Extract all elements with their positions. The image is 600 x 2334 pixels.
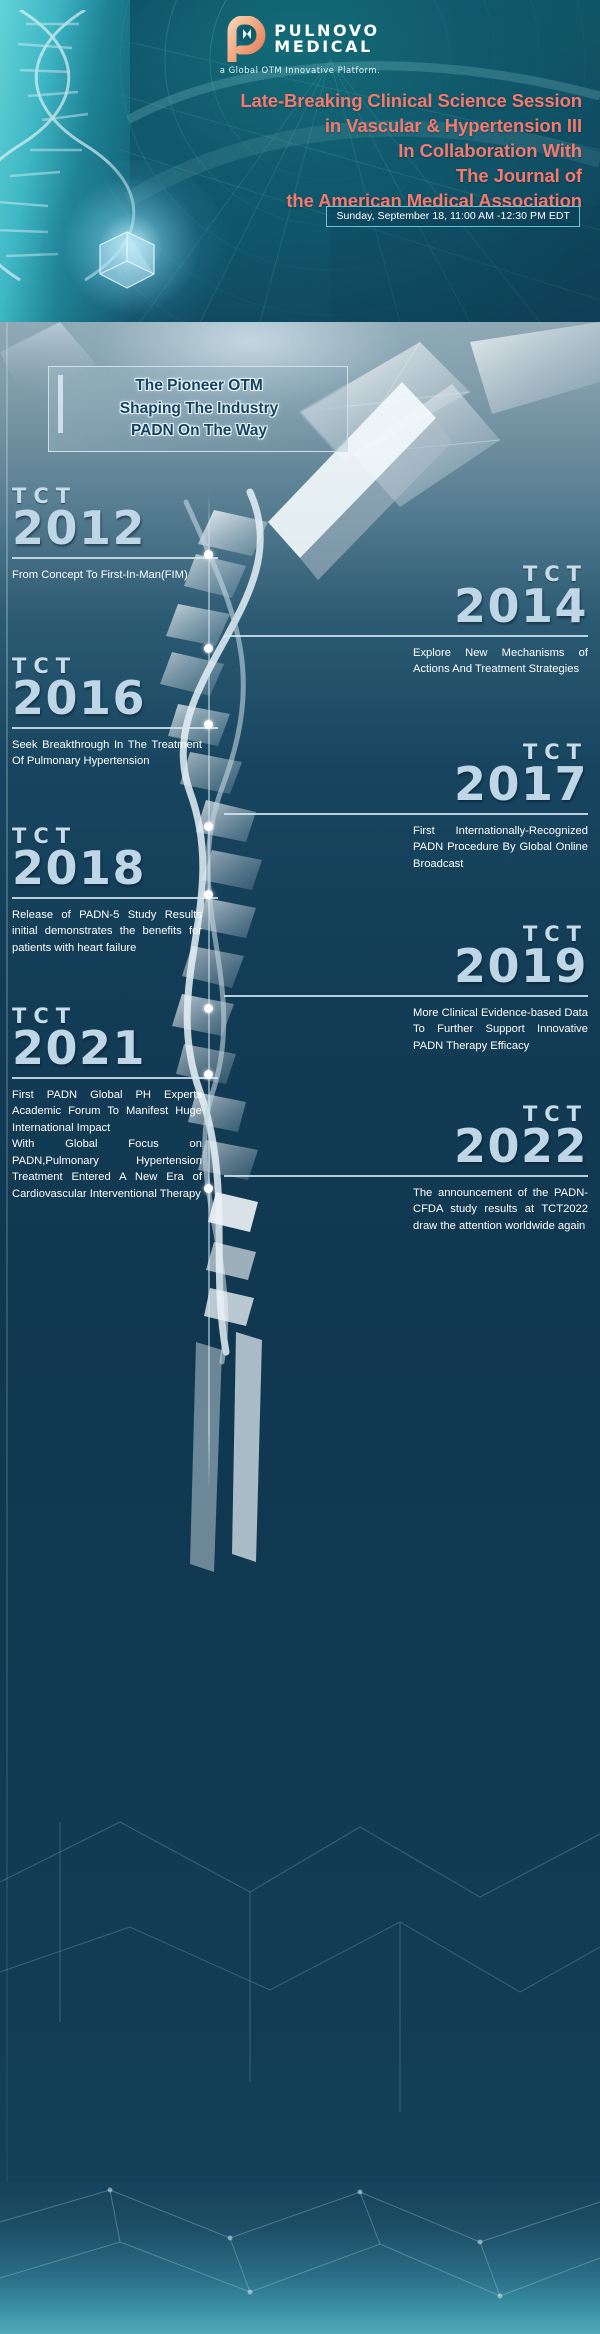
title-line-2: in Vascular & Hypertension III xyxy=(112,113,582,138)
timeline-entry-2018: TCT 2018 Release of PADN-5 Study Results… xyxy=(12,824,218,956)
left-edge-rule xyxy=(6,322,8,2182)
timeline-dot-2018 xyxy=(204,890,213,899)
infographic-page: PULNOVO MEDICAL a Global OTM Innovative … xyxy=(0,0,600,2334)
desc-2012: From Concept To First-In-Man(FIM) xyxy=(12,567,202,584)
timeline-entry-2017: TCT 2017 First Internationally-Recognize… xyxy=(224,740,588,872)
desc-2017: First Internationally-Recognized PADN Pr… xyxy=(413,823,588,873)
hero-line-2: Shaping The Industry xyxy=(49,398,349,421)
year-2018: 2018 xyxy=(12,845,218,891)
hero-line-3: PADN On The Way xyxy=(49,420,349,443)
logo-tagline: a Global OTM Innovative Platform. xyxy=(0,66,600,76)
timeline-dot-2016 xyxy=(204,720,213,729)
timeline-dot-2022 xyxy=(204,1184,213,1193)
timeline-axis xyxy=(208,492,210,1492)
year-2019: 2019 xyxy=(224,943,588,989)
year-2021: 2021 xyxy=(12,1025,218,1071)
footer-network-decor xyxy=(0,2182,600,2334)
year-2012: 2012 xyxy=(12,505,218,551)
hero-banner-text: The Pioneer OTM Shaping The Industry PAD… xyxy=(49,375,349,443)
entry-rule xyxy=(224,635,588,637)
year-2014: 2014 xyxy=(224,583,588,629)
hero-line-1: The Pioneer OTM xyxy=(49,375,349,398)
timeline-entry-2012: TCT 2012 From Concept To First-In-Man(FI… xyxy=(12,484,218,583)
timeline-body: The Pioneer OTM Shaping The Industry PAD… xyxy=(0,322,600,2182)
brand-logo: PULNOVO MEDICAL xyxy=(0,16,600,67)
header-banner: PULNOVO MEDICAL a Global OTM Innovative … xyxy=(0,0,600,322)
timeline-entry-2022: TCT 2022 The announcement of the PADN-CF… xyxy=(224,1102,588,1234)
desc-2021: First PADN Global PH Experts Academic Fo… xyxy=(12,1087,202,1203)
wireframe-cube-icon xyxy=(96,228,158,292)
desc-2014: Explore New Mechanisms of Actions And Tr… xyxy=(413,645,588,678)
timeline-dot-2014 xyxy=(204,644,213,653)
timeline-entry-2014: TCT 2014 Explore New Mechanisms of Actio… xyxy=(224,562,588,678)
title-line-1: Late-Breaking Clinical Science Session xyxy=(112,88,582,113)
timeline-dot-2012 xyxy=(204,550,213,559)
timeline-entry-2019: TCT 2019 More Clinical Evidence-based Da… xyxy=(224,922,588,1054)
session-date-badge: Sunday, September 18, 11:00 AM -12:30 PM… xyxy=(326,206,580,227)
entry-rule xyxy=(224,813,588,815)
entry-rule xyxy=(12,897,218,899)
entry-rule xyxy=(12,557,218,559)
desc-2016: Seek Breakthrough In The Treatment Of Pu… xyxy=(12,737,202,770)
logo-line-2: MEDICAL xyxy=(274,39,379,55)
desc-2022: The announcement of the PADN-CFDA study … xyxy=(413,1185,588,1235)
timeline-dot-2021 xyxy=(204,1070,213,1079)
entry-rule xyxy=(12,727,218,729)
year-2022: 2022 xyxy=(224,1123,588,1169)
entry-rule xyxy=(12,1077,218,1079)
title-line-4: The Journal of xyxy=(112,163,582,188)
pulnovo-p-logo-icon xyxy=(220,16,266,62)
desc-2019: More Clinical Evidence-based Data To Fur… xyxy=(413,1005,588,1055)
desc-2018: Release of PADN-5 Study Results initial … xyxy=(12,907,202,957)
year-2017: 2017 xyxy=(224,761,588,807)
hero-banner: The Pioneer OTM Shaping The Industry PAD… xyxy=(48,366,348,452)
session-title: Late-Breaking Clinical Science Session i… xyxy=(112,88,582,213)
timeline-entry-2016: TCT 2016 Seek Breakthrough In The Treatm… xyxy=(12,654,218,770)
year-2016: 2016 xyxy=(12,675,218,721)
timeline-entry-2021: TCT 2021 First PADN Global PH Experts Ac… xyxy=(12,1004,218,1202)
entry-rule xyxy=(224,1175,588,1177)
title-line-3: In Collaboration With xyxy=(112,138,582,163)
entry-rule xyxy=(224,995,588,997)
footer-band xyxy=(0,2182,600,2334)
